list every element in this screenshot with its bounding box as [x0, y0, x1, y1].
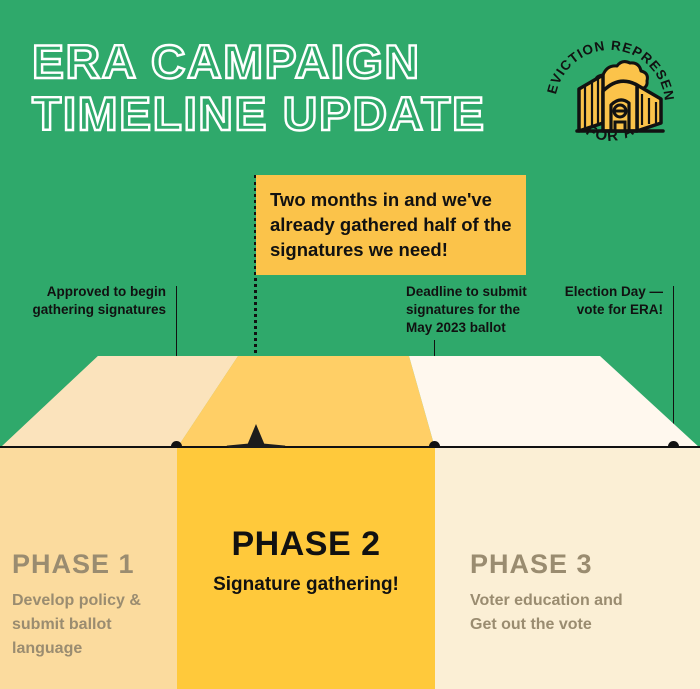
phase-3-description: Voter education and Get out the vote: [470, 589, 685, 637]
phase-1-description: Develop policy & submit ballot language: [12, 589, 177, 661]
infographic-canvas: ERA CAMPAIGN TIMELINE UPDATE EVICTION RE…: [0, 0, 700, 689]
phase-funnel: [0, 356, 700, 448]
milestone-note-approved: Approved to begin gathering signatures: [10, 283, 166, 319]
phase-2-title: PHASE 2: [177, 525, 435, 563]
page-title: ERA CAMPAIGN TIMELINE UPDATE: [32, 36, 562, 140]
progress-callout: Two months in and we've already gathered…: [256, 175, 526, 275]
phase-1-block: PHASE 1 Develop policy & submit ballot l…: [12, 549, 177, 661]
phase-2-description: Signature gathering!: [177, 573, 435, 597]
phase-1-title: PHASE 1: [12, 549, 177, 579]
eviction-representation-for-all-logo: EVICTION REPRESENTATION FOR ALL: [541, 27, 679, 165]
phase-2-block: PHASE 2 Signature gathering!: [177, 525, 435, 597]
phase-3-block: PHASE 3 Voter education and Get out the …: [470, 549, 685, 637]
milestone-note-election: Election Day — vote for ERA!: [533, 283, 663, 319]
phase-3-title: PHASE 3: [470, 549, 685, 579]
